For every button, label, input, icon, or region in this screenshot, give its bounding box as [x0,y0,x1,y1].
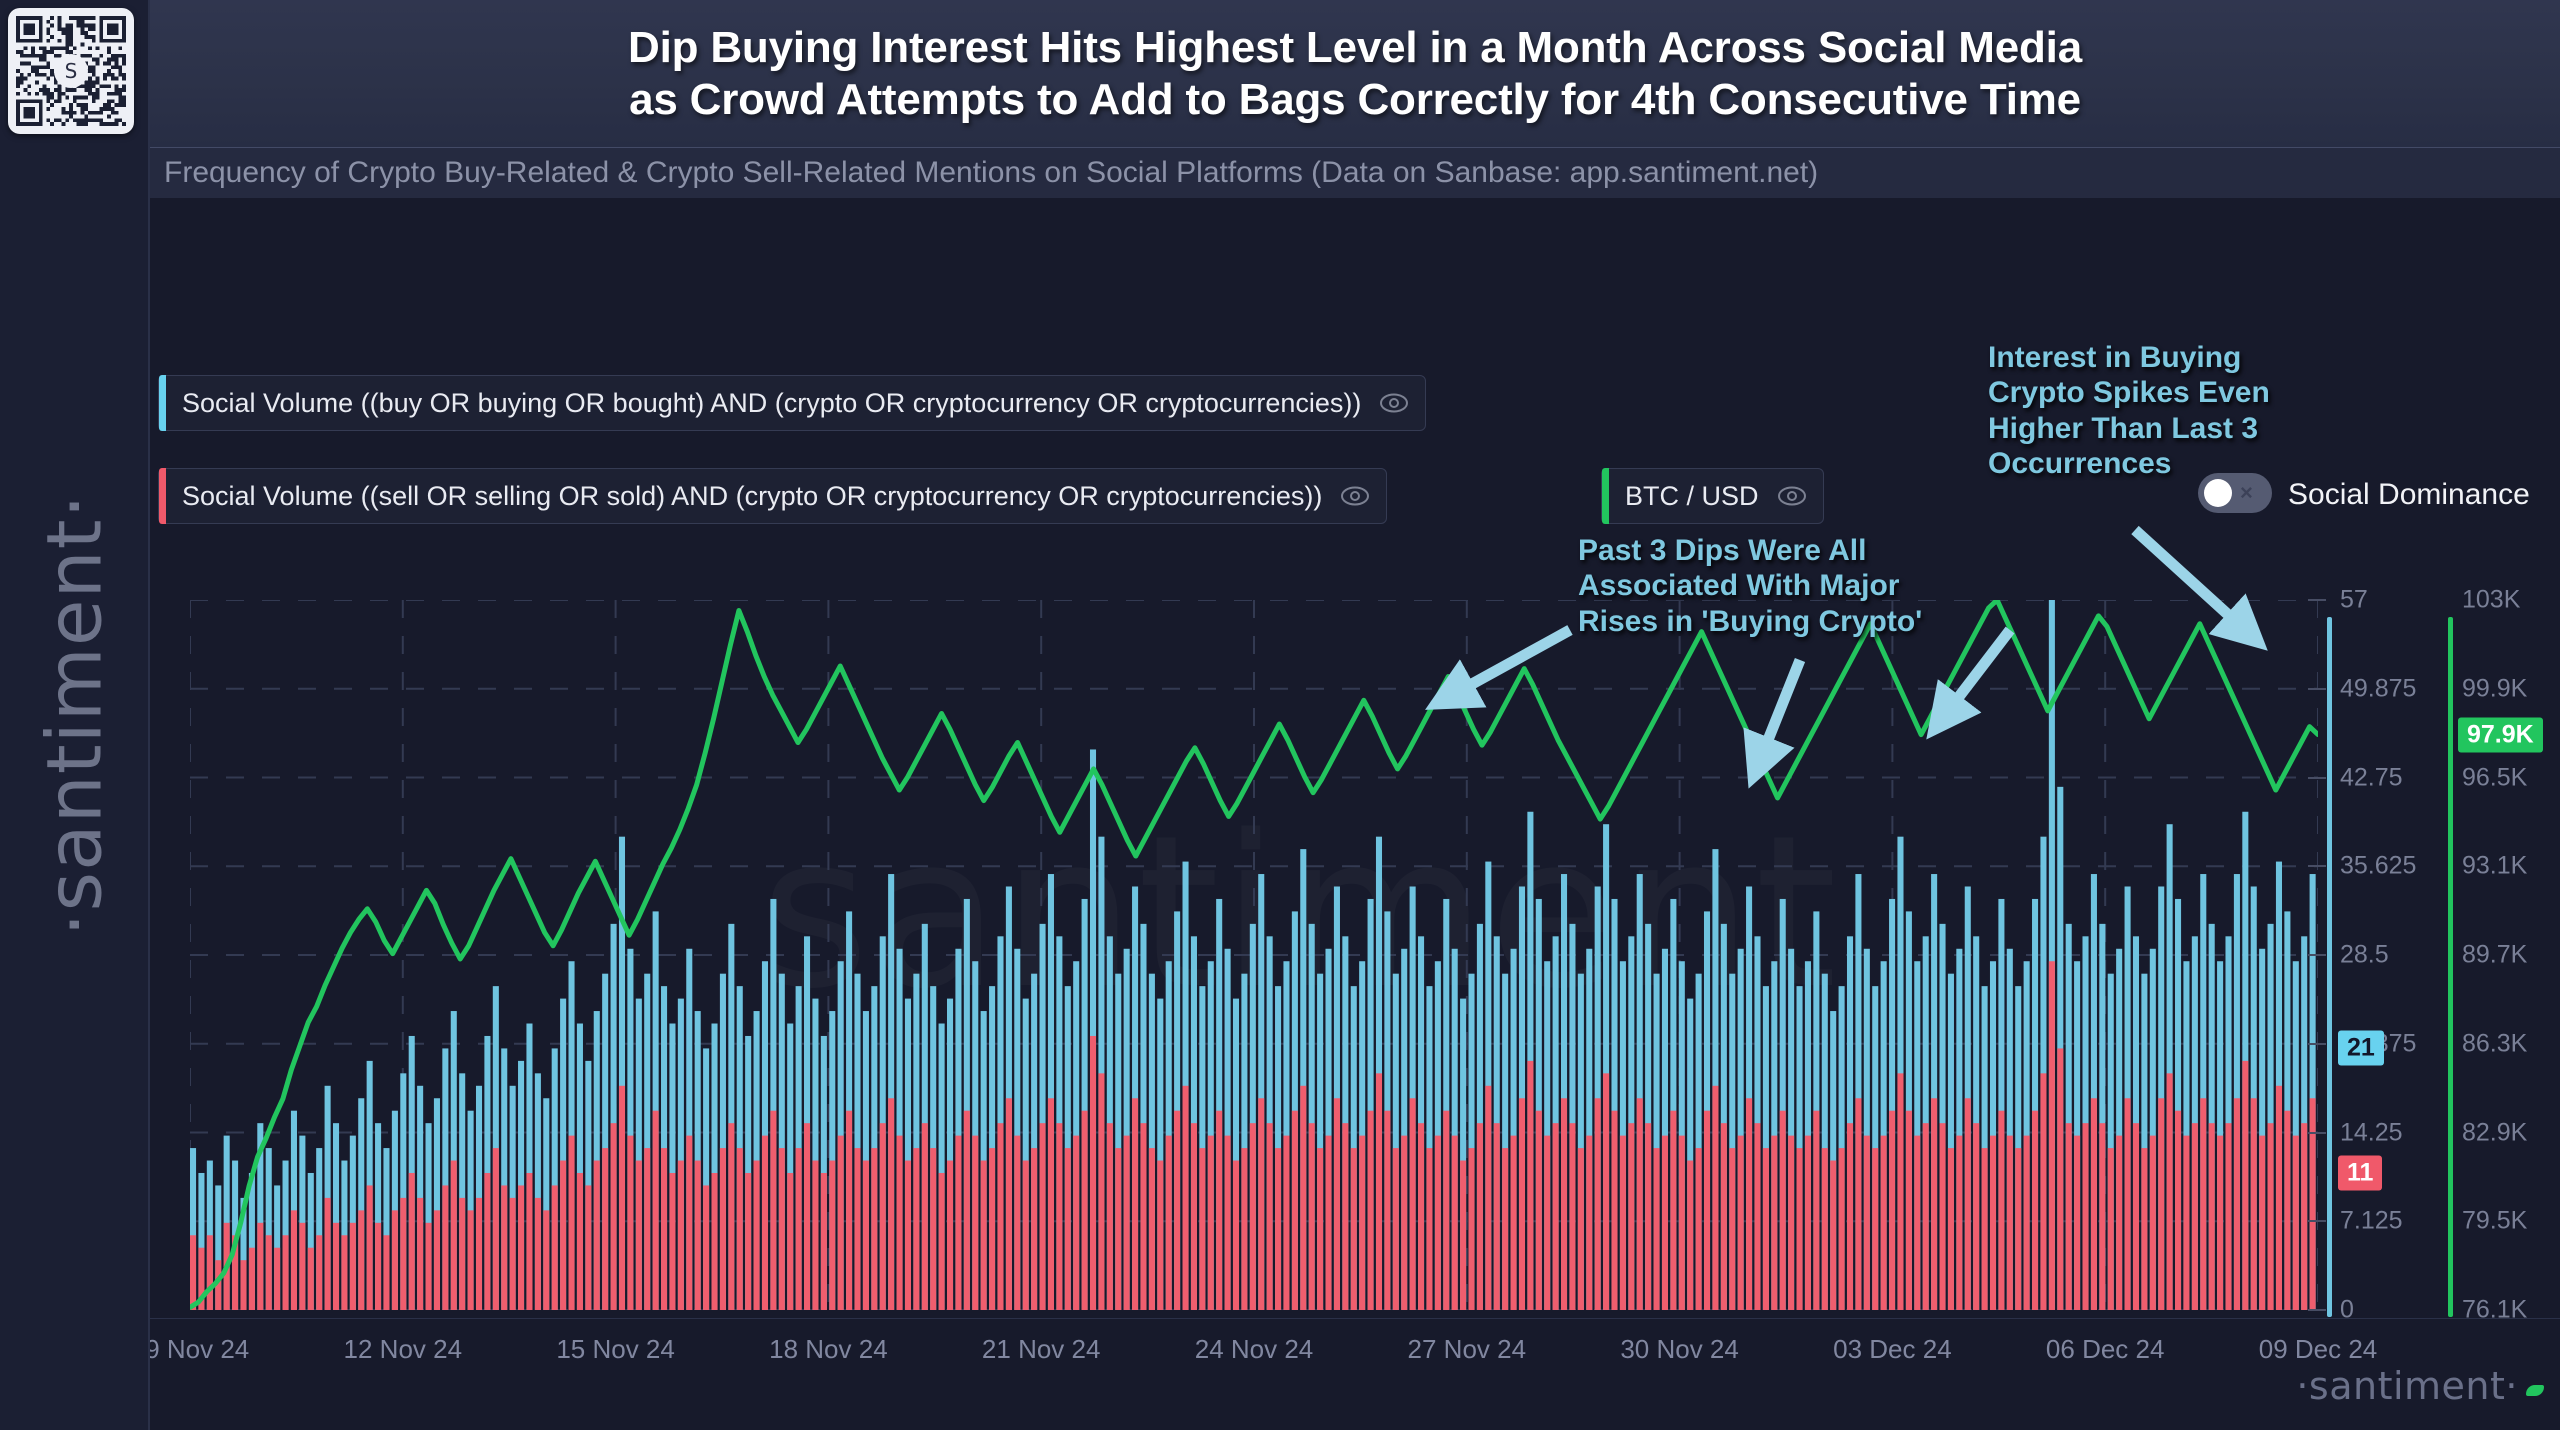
legend-item-btc-usd[interactable]: BTC / USD [1601,468,1824,524]
legend-item-buy-volume[interactable]: Social Volume ((buy OR buying OR bought)… [158,375,1426,431]
left-axis-tick: 42.75 [2340,763,2403,792]
left-axis-value-badge: 21 [2338,1031,2384,1066]
right-axis-tick: 93.1K [2462,852,2527,881]
left-axis-tick: 35.625 [2340,852,2416,881]
btc-price-line [190,600,2318,1310]
social-dominance-label: Social Dominance [2288,478,2530,512]
legend-label-btc: BTC / USD [1625,481,1759,512]
x-axis-tick: 09 Dec 24 [2259,1334,2378,1365]
eye-icon-sell[interactable] [1340,485,1370,507]
left-axis-ticks: 07.12514.2521.37528.535.62542.7549.87557… [2340,0,2450,1430]
left-axis-tick: 57 [2340,586,2368,615]
page-title-line-2: as Crowd Attempts to Add to Bags Correct… [629,74,2081,125]
right-axis-tick: 89.7K [2462,941,2527,970]
left-tick-mark [2308,954,2326,956]
santiment-qr-logo: S [54,54,88,88]
left-axis-color-bar [2327,617,2332,1317]
left-axis-tick: 14.25 [2340,1118,2403,1147]
santiment-rail-watermark: ·santiment· [30,493,119,936]
right-axis-ticks: 76.1K79.5K82.9K86.3K89.7K93.1K96.5K99.9K… [2462,0,2560,1430]
x-axis-tick: 06 Dec 24 [2046,1334,2165,1365]
legend-item-sell-volume[interactable]: Social Volume ((sell OR selling OR sold)… [158,468,1387,524]
toggle-knob [2204,479,2232,507]
chart-subtitle: Frequency of Crypto Buy-Related & Crypto… [164,156,1818,190]
annotation-past-3-dips: Past 3 Dips Were All Associated With Maj… [1578,533,1922,639]
social-dominance-toggle[interactable]: × [2198,473,2272,513]
eye-icon-btc[interactable] [1777,485,1807,507]
left-rail: ·santiment· [0,0,150,1430]
left-axis-tick: 7.125 [2340,1207,2403,1236]
annotation-interest-in-buying: Interest in Buying Crypto Spikes Even Hi… [1988,340,2270,482]
right-axis-tick: 103K [2462,586,2520,615]
left-tick-mark [2308,1132,2326,1134]
header-banner: Dip Buying Interest Hits Highest Level i… [150,0,2560,148]
left-tick-mark [2308,1309,2326,1311]
right-axis-tick: 82.9K [2462,1118,2527,1147]
left-tick-mark [2308,1220,2326,1222]
qr-canvas: S [16,16,126,126]
legend-swatch-buy [159,375,166,431]
x-axis-tick: 24 Nov 24 [1195,1334,1314,1365]
close-icon: × [2240,480,2253,506]
left-tick-mark [2308,1043,2326,1045]
right-axis-tick: 79.5K [2462,1207,2527,1236]
subtitle-bar: Frequency of Crypto Buy-Related & Crypto… [150,148,2560,198]
page-title-line-1: Dip Buying Interest Hits Highest Level i… [628,22,2082,73]
footer-watermark: ·santiment· [2296,1364,2518,1408]
x-axis-tick: 30 Nov 24 [1620,1334,1739,1365]
x-axis-tick: 21 Nov 24 [982,1334,1101,1365]
left-tick-mark [2308,865,2326,867]
left-axis-tick: 28.5 [2340,941,2389,970]
left-axis-tick: 49.875 [2340,674,2416,703]
x-axis-tick: 12 Nov 24 [344,1334,463,1365]
x-axis-line [150,1318,2560,1319]
qr-code[interactable]: S [8,8,134,134]
right-axis-tick: 99.9K [2462,674,2527,703]
right-axis-value-badge: 97.9K [2458,717,2543,752]
right-axis-tick: 96.5K [2462,763,2527,792]
left-axis-value-badge: 11 [2338,1155,2382,1190]
legend-label-buy: Social Volume ((buy OR buying OR bought)… [182,388,1361,419]
chart-plot-area [190,600,2318,1310]
left-tick-mark [2308,777,2326,779]
x-axis-tick: 18 Nov 24 [769,1334,888,1365]
x-axis-tick: 27 Nov 24 [1408,1334,1527,1365]
legend-swatch-sell [159,468,166,524]
legend-swatch-btc [1602,468,1609,524]
x-axis-labels: 09 Nov 2412 Nov 2415 Nov 2418 Nov 2421 N… [0,1320,2560,1380]
eye-icon-buy[interactable] [1379,392,1409,414]
legend-label-sell: Social Volume ((sell OR selling OR sold)… [182,481,1322,512]
x-axis-tick: 15 Nov 24 [556,1334,675,1365]
left-tick-mark [2308,688,2326,690]
left-tick-mark [2308,599,2326,601]
x-axis-tick: 03 Dec 24 [1833,1334,1952,1365]
right-axis-tick: 86.3K [2462,1029,2527,1058]
